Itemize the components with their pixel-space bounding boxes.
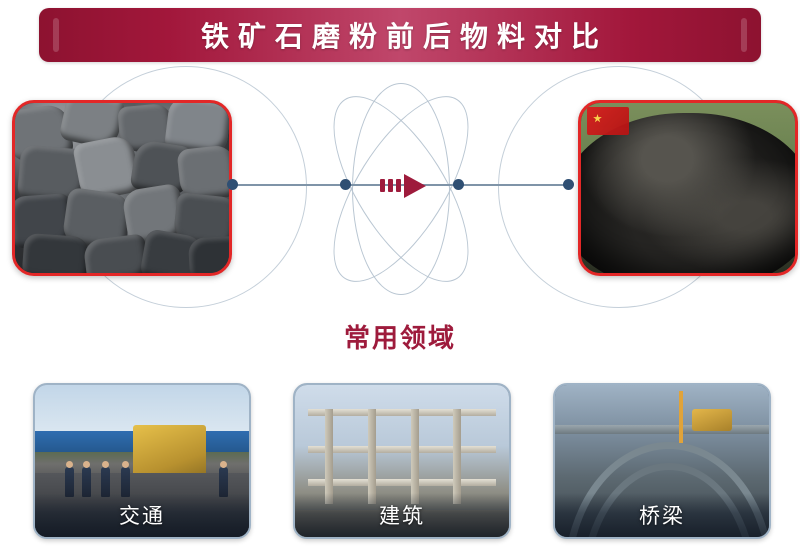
flag-icon [587, 107, 629, 135]
ore-image [15, 103, 229, 273]
process-arrow-icon [380, 174, 440, 198]
title-banner: 铁矿石磨粉前后物料对比 [39, 8, 761, 62]
arrow-head [404, 174, 426, 198]
arrow-bar [388, 179, 393, 192]
floor-slab [308, 446, 496, 453]
application-card-bridge[interactable]: 桥梁 [553, 383, 771, 539]
application-card-building[interactable]: 建筑 [293, 383, 511, 539]
arrow-bar [396, 179, 401, 192]
column [453, 409, 461, 503]
connector-node [563, 179, 574, 190]
floor-slab [308, 409, 496, 416]
connector-node [227, 179, 238, 190]
column [368, 409, 376, 503]
iron-ore-rocks-photo [12, 100, 232, 276]
column [325, 409, 333, 503]
arrow-bar [380, 179, 385, 192]
comparison-section [0, 66, 800, 311]
floor-slab [308, 479, 496, 486]
iron-ore-powder-photo [578, 100, 798, 276]
section-title: 常用领域 [0, 318, 800, 355]
connector-node [453, 179, 464, 190]
card-label: 桥梁 [555, 493, 769, 537]
card-label: 建筑 [295, 493, 509, 537]
crane-cab [692, 409, 732, 431]
page-title: 铁矿石磨粉前后物料对比 [39, 8, 761, 62]
column [411, 409, 419, 503]
application-cards: 交通 建筑 桥梁 [0, 383, 800, 543]
application-card-transport[interactable]: 交通 [33, 383, 251, 539]
card-label: 交通 [35, 493, 249, 537]
crane-mast [679, 391, 683, 443]
connector-node [340, 179, 351, 190]
bridge-deck [555, 425, 769, 434]
powder-image [578, 113, 798, 276]
